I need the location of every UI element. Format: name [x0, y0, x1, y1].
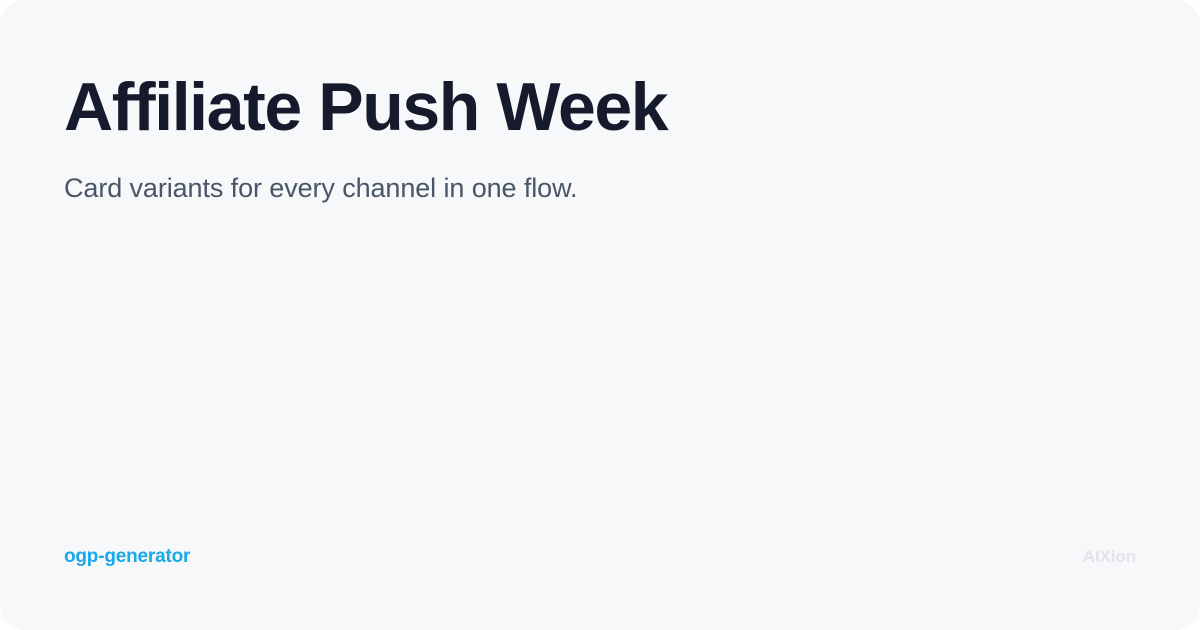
- og-image-card: Affiliate Push Week Card variants for ev…: [0, 0, 1200, 630]
- page-subtitle: Card variants for every channel in one f…: [64, 143, 1136, 206]
- hero-text-block: Affiliate Push Week Card variants for ev…: [64, 72, 1136, 206]
- card-footer: ogp-generator AIXion: [64, 547, 1136, 566]
- watermark-label: AIXion: [1083, 548, 1136, 565]
- content-spacer: [64, 206, 1136, 547]
- brand-label: ogp-generator: [64, 547, 190, 566]
- page-title: Affiliate Push Week: [64, 72, 1136, 143]
